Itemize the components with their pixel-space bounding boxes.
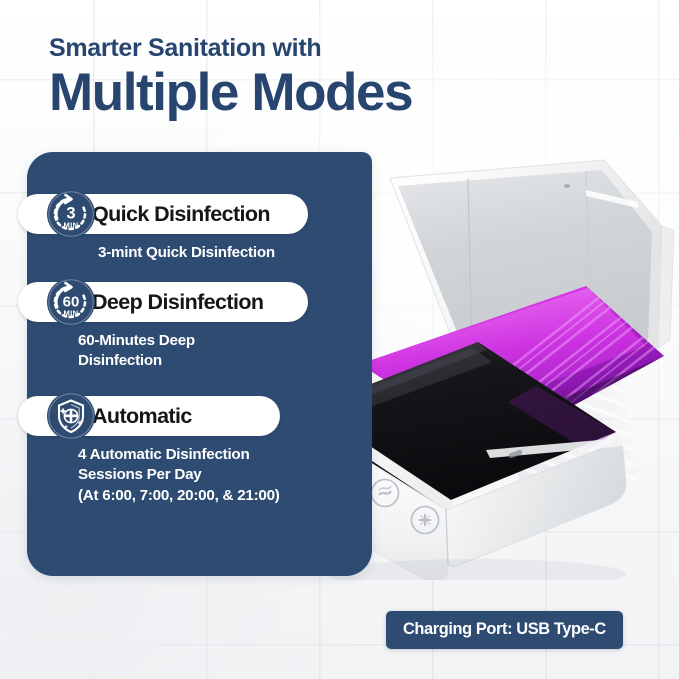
feature-title: Automatic xyxy=(92,404,192,429)
heading-line-1: Smarter Sanitation with xyxy=(49,36,412,61)
charging-port-badge: Charging Port: USB Type-C xyxy=(386,611,623,649)
feature-pill[interactable]: Automatic xyxy=(18,396,280,436)
page-title: Smarter Sanitation with Multiple Modes xyxy=(49,36,412,121)
timer-60-min-icon: 60 MIN xyxy=(46,277,96,327)
heading-line-2: Multiple Modes xyxy=(49,65,412,121)
feature-description: 60-Minutes Deep Disinfection xyxy=(78,331,308,372)
feature-automatic[interactable]: Automatic 4 Automatic Disinfection Sessi… xyxy=(0,396,280,506)
svg-text:MIN: MIN xyxy=(63,309,78,318)
feature-pill[interactable]: 3 MIN Quick Disinfection xyxy=(18,194,308,234)
feature-description: 3-mint Quick Disinfection xyxy=(98,243,308,263)
feature-description-line: Sessions Per Day xyxy=(78,465,280,485)
timer-3-min-icon: 3 MIN xyxy=(46,189,96,239)
feature-description: 4 Automatic Disinfection Sessions Per Da… xyxy=(78,445,280,506)
feature-pill[interactable]: 60 MIN Deep Disinfection xyxy=(18,282,308,322)
feature-description-line: (At 6:00, 7:00, 20:00, & 21:00) xyxy=(78,486,280,506)
feature-description-line: 3-mint Quick Disinfection xyxy=(98,243,308,263)
feature-deep-disinfection[interactable]: 60 MIN Deep Disinfection 60-Minutes Deep… xyxy=(0,282,308,372)
feature-title: Deep Disinfection xyxy=(92,290,263,315)
feature-title: Quick Disinfection xyxy=(92,202,270,227)
feature-description-line: 4 Automatic Disinfection xyxy=(78,445,280,465)
feature-description-line: Disinfection xyxy=(78,351,308,371)
infographic-canvas: Smarter Sanitation with Multiple Modes xyxy=(0,0,679,679)
feature-description-line: 60-Minutes Deep xyxy=(78,331,308,351)
svg-text:MIN: MIN xyxy=(63,221,78,230)
shield-plus-sparkle-icon xyxy=(46,391,96,441)
feature-quick-disinfection[interactable]: 3 MIN Quick Disinfection 3-mint Quick Di… xyxy=(0,194,308,263)
